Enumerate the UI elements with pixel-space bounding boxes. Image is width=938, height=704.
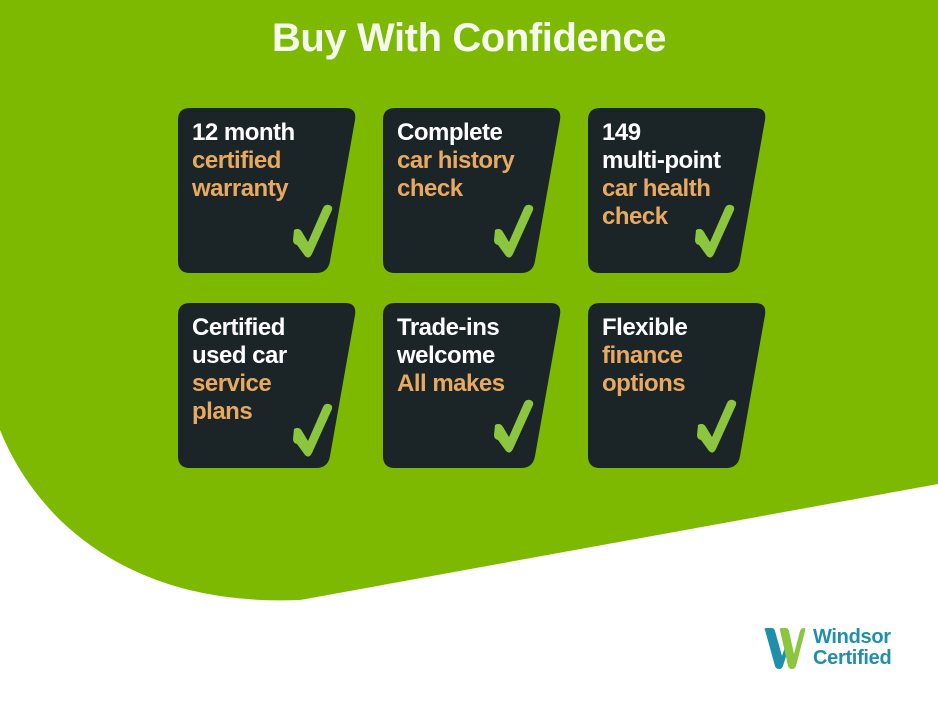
promo-banner: Buy With Confidence 12 month certified w… [0,0,938,704]
card-line: welcome [397,342,546,370]
benefit-card-trade-ins: Trade-ins welcome All makes [383,303,562,468]
page-title: Buy With Confidence [0,16,938,61]
card-line: 12 month [192,119,341,147]
card-line: check [397,175,546,203]
checkmark-icon [290,403,334,459]
card-line: options [602,370,751,398]
card-line: multi-point [602,147,751,175]
card-line: car history [397,147,546,175]
benefits-row-bottom: Certified used car service plans Trade-i… [178,303,768,468]
card-line: 149 [602,119,751,147]
card-line: car health [602,175,751,203]
card-text: Trade-ins welcome All makes [397,314,546,398]
card-line: All makes [397,370,546,398]
checkmark-icon [692,204,736,260]
checkmark-icon [491,204,535,260]
windsor-w-mark-icon [762,627,806,669]
card-text: Complete car history check [397,119,546,203]
card-line: Trade-ins [397,314,546,342]
benefit-card-finance-options: Flexible finance options [588,303,767,468]
card-text: Flexible finance options [602,314,751,398]
card-line: Certified [192,314,341,342]
benefits-grid: 12 month certified warranty Complete car… [178,108,768,498]
checkmark-icon [290,204,334,260]
benefit-card-multi-point-health-check: 149 multi-point car health check [588,108,767,273]
logo-line-certified: Certified [813,648,891,669]
card-line: Flexible [602,314,751,342]
benefits-row-top: 12 month certified warranty Complete car… [178,108,768,273]
benefit-card-car-history-check: Complete car history check [383,108,562,273]
logo-wordmark: Windsor Certified [813,627,891,669]
checkmark-icon [694,399,738,455]
benefit-card-service-plans: Certified used car service plans [178,303,357,468]
card-line: used car [192,342,341,370]
card-line: certified [192,147,341,175]
card-line: finance [602,342,751,370]
windsor-certified-logo: Windsor Certified [762,627,891,669]
card-line: service [192,370,341,398]
checkmark-icon [491,399,535,455]
card-line: Complete [397,119,546,147]
benefit-card-certified-warranty: 12 month certified warranty [178,108,357,273]
logo-line-windsor: Windsor [813,627,891,648]
card-line: warranty [192,175,341,203]
card-text: 12 month certified warranty [192,119,341,203]
